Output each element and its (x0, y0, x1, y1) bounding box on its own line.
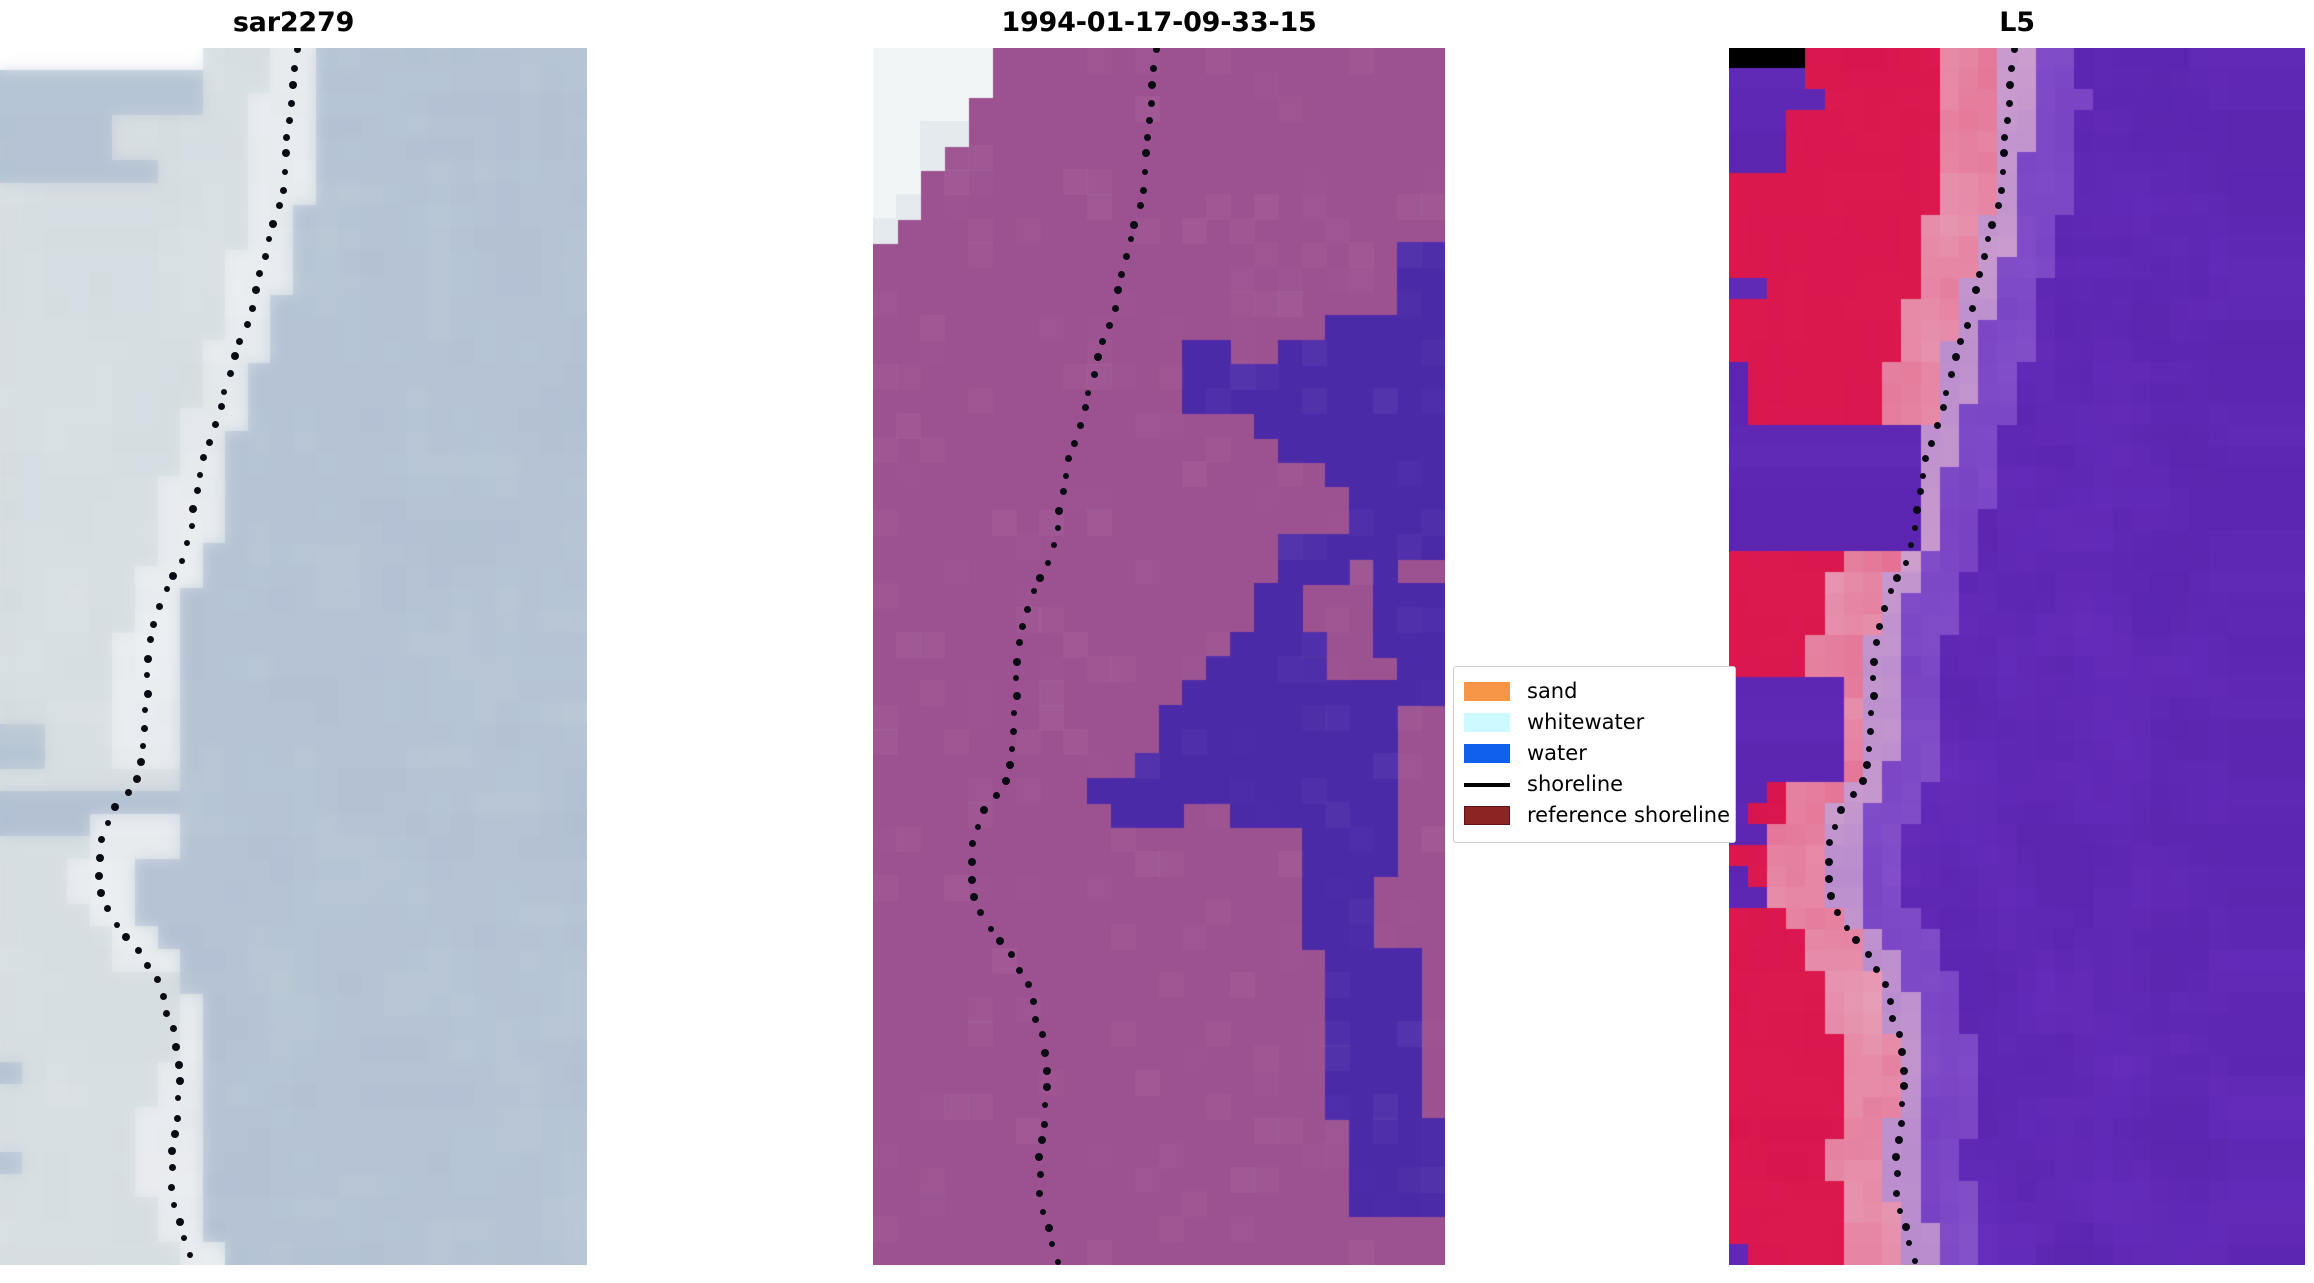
shoreline-dot (968, 858, 976, 866)
shoreline-dot (1045, 560, 1051, 566)
shoreline-dot (174, 1115, 181, 1122)
shoreline-dot (1870, 658, 1878, 666)
shoreline-dot (169, 1164, 176, 1171)
shoreline-dot (1042, 1102, 1048, 1108)
shoreline-dot (133, 775, 141, 783)
shoreline-dot (141, 725, 148, 732)
shoreline-overlay-sar (0, 48, 587, 1265)
shoreline-dot (1895, 1136, 1903, 1144)
shoreline-dot (1948, 371, 1955, 378)
shoreline-dot (1898, 1120, 1905, 1127)
shoreline-dot (1146, 117, 1153, 124)
shoreline-dot (1038, 1136, 1046, 1144)
shoreline-dot (2004, 117, 2011, 124)
shoreline-dot (1940, 404, 1947, 411)
shoreline-dot (1049, 1241, 1055, 1247)
shoreline-dot (1106, 322, 1113, 329)
shoreline-dot (1852, 936, 1860, 944)
shoreline-dot (1123, 253, 1130, 260)
legend-swatch-reference-shoreline-icon (1464, 806, 1510, 825)
shoreline-dot (1917, 488, 1924, 495)
shoreline-dot (200, 454, 207, 461)
shoreline-dot (1900, 1082, 1908, 1090)
shoreline-dot (231, 352, 239, 360)
shoreline-dot (1051, 542, 1057, 548)
shoreline-dot (1863, 761, 1871, 769)
shoreline-dot (187, 1252, 193, 1258)
shoreline-dot (105, 820, 111, 826)
panel-title-classified: 1994-01-17-09-33-15 (873, 6, 1445, 40)
shoreline-dot (147, 636, 154, 643)
shoreline-dot (1148, 100, 1155, 107)
shoreline-dot (168, 1184, 175, 1191)
shoreline-dot (1964, 322, 1971, 329)
shoreline-dot (1142, 169, 1148, 175)
shoreline-overlay-l5 (1729, 48, 2305, 1265)
shoreline-dot (266, 236, 272, 242)
shoreline-dot (206, 439, 213, 446)
shoreline-dot (282, 149, 290, 157)
shoreline-dot (244, 321, 251, 328)
shoreline-dot (280, 187, 287, 194)
shoreline-dot (135, 947, 142, 954)
shoreline-dot (1055, 507, 1063, 515)
shoreline-dot (1995, 202, 2002, 209)
shoreline-dot (269, 220, 277, 228)
shoreline-dot (95, 872, 103, 880)
shoreline-dot (1043, 1083, 1051, 1091)
shoreline-dot (286, 117, 293, 124)
shoreline-dot (144, 690, 152, 698)
shoreline-dot (1943, 390, 1949, 396)
shoreline-dot (1894, 1170, 1901, 1177)
shoreline-dot (154, 976, 161, 983)
shoreline-dot (125, 789, 132, 796)
shoreline-dot (1091, 371, 1098, 378)
legend-label: sand (1527, 679, 1577, 704)
shoreline-dot (1889, 1015, 1896, 1022)
shoreline-dot (175, 1061, 183, 1069)
shoreline-dot (1928, 440, 1935, 447)
shoreline-dot (1043, 1067, 1051, 1075)
shoreline-dot (171, 1130, 179, 1138)
shoreline-dot (194, 487, 201, 494)
legend-item-whitewater[interactable]: whitewater (1464, 707, 1723, 738)
shoreline-dot (1826, 839, 1833, 846)
shoreline-dot (1025, 981, 1032, 988)
shoreline-dot (1972, 286, 1980, 294)
shoreline-dot (1071, 440, 1078, 447)
shoreline-dot (1981, 253, 1988, 260)
shoreline-dot (1142, 149, 1150, 157)
shoreline-dot (1128, 236, 1134, 242)
shoreline-dot (1897, 1208, 1903, 1214)
shoreline-dot (156, 603, 163, 610)
shoreline-dot (114, 922, 120, 928)
legend-label: shoreline (1527, 772, 1623, 797)
shoreline-dot (1055, 525, 1061, 531)
shoreline-dot (1913, 506, 1921, 514)
shoreline-dot (1893, 1190, 1900, 1197)
shoreline-dot (1825, 858, 1833, 866)
legend-item-sand[interactable]: sand (1464, 676, 1723, 707)
shoreline-dot (1013, 675, 1019, 681)
shoreline-dot (1045, 1224, 1053, 1232)
shoreline-dot (140, 743, 146, 749)
shoreline-dot (1903, 560, 1909, 566)
shoreline-dot (122, 933, 130, 941)
shoreline-dot (176, 1218, 184, 1226)
shoreline-dot (170, 1025, 177, 1032)
shoreline-dot (249, 305, 256, 312)
shoreline-dot (1036, 574, 1044, 582)
shoreline-dot (1900, 1067, 1908, 1075)
shoreline-dot (1055, 1259, 1061, 1265)
shoreline-dot (1065, 455, 1072, 462)
legend-item-shoreline[interactable]: shoreline (1464, 769, 1723, 800)
shoreline-dot (1887, 998, 1894, 1005)
shoreline-dot (1850, 791, 1857, 798)
shoreline-dot (1844, 925, 1850, 931)
shoreline-dot (1922, 455, 1929, 462)
shoreline-dot (1037, 1171, 1044, 1178)
shoreline-dot (1009, 746, 1015, 752)
panel-classified[interactable] (873, 48, 1445, 1265)
legend-item-reference-shoreline[interactable]: reference shoreline (1464, 800, 1723, 831)
shoreline-dot (1041, 1121, 1048, 1128)
shoreline-dot (2000, 169, 2006, 175)
shoreline-dot (1040, 1209, 1046, 1215)
shoreline-dot (2006, 81, 2014, 89)
shoreline-dot (1013, 658, 1021, 666)
shoreline-dot (1985, 236, 1991, 242)
shoreline-dot (1899, 1101, 1905, 1107)
shoreline-dot (975, 824, 981, 830)
legend-label: water (1527, 741, 1587, 766)
panel-l5[interactable] (1729, 48, 2305, 1265)
shoreline-dot (144, 672, 150, 678)
shoreline-dot (144, 655, 152, 663)
shoreline-dot (1865, 951, 1872, 958)
shoreline-dot (291, 65, 298, 72)
shoreline-dot (218, 403, 225, 410)
shoreline-dot (96, 854, 104, 862)
shoreline-dot (1112, 305, 1119, 312)
legend-swatch-whitewater-icon (1464, 713, 1510, 732)
shoreline-dot (1041, 1049, 1049, 1057)
shoreline-dot (256, 270, 263, 277)
shoreline-dot (176, 1077, 184, 1085)
shoreline-overlay-classified (873, 48, 1445, 1265)
shoreline-dot (1867, 728, 1874, 735)
shoreline-dot (1902, 1223, 1910, 1231)
shoreline-dot (1030, 998, 1037, 1005)
shoreline-dot (111, 803, 119, 811)
shoreline-dot (1912, 525, 1918, 531)
shoreline-dot (175, 1095, 181, 1101)
shoreline-dot (1834, 909, 1841, 916)
shoreline-dot (163, 1010, 170, 1017)
shoreline-dot (1837, 806, 1845, 814)
shoreline-dot (2008, 65, 2015, 72)
shoreline-dot (1912, 1258, 1918, 1264)
shoreline-dot (282, 169, 288, 175)
shoreline-dot (2000, 149, 2008, 157)
shoreline-dot (1892, 1153, 1900, 1161)
shoreline-dot (1873, 639, 1880, 646)
shoreline-dot (160, 993, 167, 1000)
shoreline-dot (1957, 338, 1964, 345)
shoreline-dot (1888, 588, 1894, 594)
shoreline-dot (168, 1147, 176, 1155)
shoreline-dot (1896, 1031, 1903, 1038)
shoreline-dot (1825, 875, 1833, 883)
shoreline-dot (1934, 422, 1941, 429)
shoreline-dot (1006, 761, 1014, 769)
shoreline-dot (212, 421, 219, 428)
shoreline-dot (1906, 1240, 1912, 1246)
shoreline-dot (1036, 1190, 1043, 1197)
shoreline-dot (1024, 606, 1031, 613)
shoreline-dot (236, 338, 243, 345)
shoreline-dot (1137, 202, 1144, 209)
shoreline-dot (164, 586, 170, 592)
legend-label: reference shoreline (1527, 803, 1730, 828)
shoreline-dot (1060, 488, 1067, 495)
shoreline-dot (169, 572, 177, 580)
shoreline-dot (996, 937, 1004, 945)
shoreline-dot (1920, 473, 1926, 479)
shoreline-dot (98, 836, 105, 843)
panel-title-l5: L5 (1729, 6, 2305, 40)
shoreline-dot (1859, 777, 1867, 785)
shoreline-dot (142, 707, 148, 713)
shoreline-dot (1011, 710, 1017, 716)
shoreline-dot (104, 905, 111, 912)
shoreline-dot (2006, 100, 2013, 107)
shoreline-dot (1008, 951, 1015, 958)
legend-label: whitewater (1527, 710, 1644, 735)
shoreline-dot (181, 1235, 187, 1241)
shoreline-dot (1998, 187, 2005, 194)
shoreline-dot (1016, 639, 1023, 646)
shoreline-dot (1114, 286, 1122, 294)
legend-swatch-water-icon (1464, 744, 1510, 763)
legend-swatch-shoreline-icon (1464, 783, 1510, 787)
shoreline-dot (1870, 692, 1878, 700)
shoreline-dot (1832, 824, 1838, 830)
shoreline-dot (137, 758, 145, 766)
shoreline-dot (227, 370, 234, 377)
shoreline-dot (1876, 623, 1883, 630)
shoreline-dot (1031, 588, 1037, 594)
shoreline-dot (1870, 675, 1876, 681)
shoreline-dot (1976, 271, 1983, 278)
shoreline-dot (1144, 134, 1151, 141)
shoreline-dot (977, 909, 984, 916)
shoreline-dot (189, 505, 197, 513)
legend[interactable]: sandwhitewaterwatershorelinereference sh… (1453, 666, 1736, 843)
shoreline-dot (1988, 221, 1996, 229)
shoreline-dot (189, 523, 195, 529)
shoreline-dot (184, 540, 190, 546)
shoreline-dot (1130, 221, 1138, 229)
shoreline-dot (1908, 542, 1914, 548)
shoreline-dot (1013, 692, 1021, 700)
shoreline-dot (276, 202, 283, 209)
shoreline-dot (969, 840, 976, 847)
shoreline-dot (252, 286, 260, 294)
shoreline-dot (970, 893, 978, 901)
shoreline-dot (1010, 728, 1017, 735)
shoreline-dot (172, 1043, 180, 1051)
legend-item-water[interactable]: water (1464, 738, 1723, 769)
panel-sar[interactable] (0, 48, 587, 1265)
shoreline-dot (171, 1202, 177, 1208)
shoreline-dot (1002, 777, 1010, 785)
shoreline-dot (283, 134, 290, 141)
shoreline-dot (1148, 81, 1156, 89)
shoreline-dot (1969, 305, 1976, 312)
shoreline-dot (262, 253, 269, 260)
shoreline-dot (1898, 1048, 1906, 1056)
shoreline-dot (1893, 574, 1901, 582)
shoreline-dot (150, 621, 157, 628)
figure-root: sar2279 1994-01-17-09-33-15 L5 sandwhite… (0, 0, 2314, 1283)
shoreline-dot (1140, 187, 1147, 194)
shoreline-dot (1099, 338, 1106, 345)
shoreline-dot (1094, 353, 1102, 361)
shoreline-dot (97, 889, 105, 897)
legend-swatch-sand-icon (1464, 682, 1510, 701)
shoreline-dot (968, 876, 976, 884)
shoreline-dot (993, 792, 1000, 799)
shoreline-dot (1016, 967, 1023, 974)
shoreline-dot (1077, 422, 1084, 429)
shoreline-dot (988, 926, 994, 932)
shoreline-dot (289, 81, 297, 89)
shoreline-dot (980, 806, 988, 814)
shoreline-dot (1063, 473, 1069, 479)
shoreline-dot (1866, 746, 1872, 752)
shoreline-dot (1882, 981, 1889, 988)
shoreline-dot (1035, 1153, 1043, 1161)
shoreline-dot (2001, 134, 2008, 141)
shoreline-dot (1881, 605, 1888, 612)
shoreline-dot (1952, 353, 1960, 361)
shoreline-dot (1019, 623, 1026, 630)
shoreline-dot (221, 389, 227, 395)
shoreline-dot (1082, 404, 1089, 411)
shoreline-dot (179, 558, 185, 564)
shoreline-dot (1153, 48, 1160, 53)
shoreline-dot (1118, 271, 1125, 278)
shoreline-dot (288, 100, 295, 107)
panel-title-sar: sar2279 (0, 6, 587, 40)
shoreline-dot (1827, 892, 1835, 900)
shoreline-dot (1868, 710, 1874, 716)
shoreline-dot (197, 472, 203, 478)
shoreline-dot (1039, 1031, 1046, 1038)
shoreline-dot (1085, 390, 1091, 396)
shoreline-dot (1873, 966, 1880, 973)
shoreline-dot (294, 48, 301, 53)
shoreline-dot (2011, 48, 2018, 53)
shoreline-dot (144, 962, 151, 969)
shoreline-dot (1150, 65, 1157, 72)
shoreline-dot (1032, 1016, 1039, 1023)
